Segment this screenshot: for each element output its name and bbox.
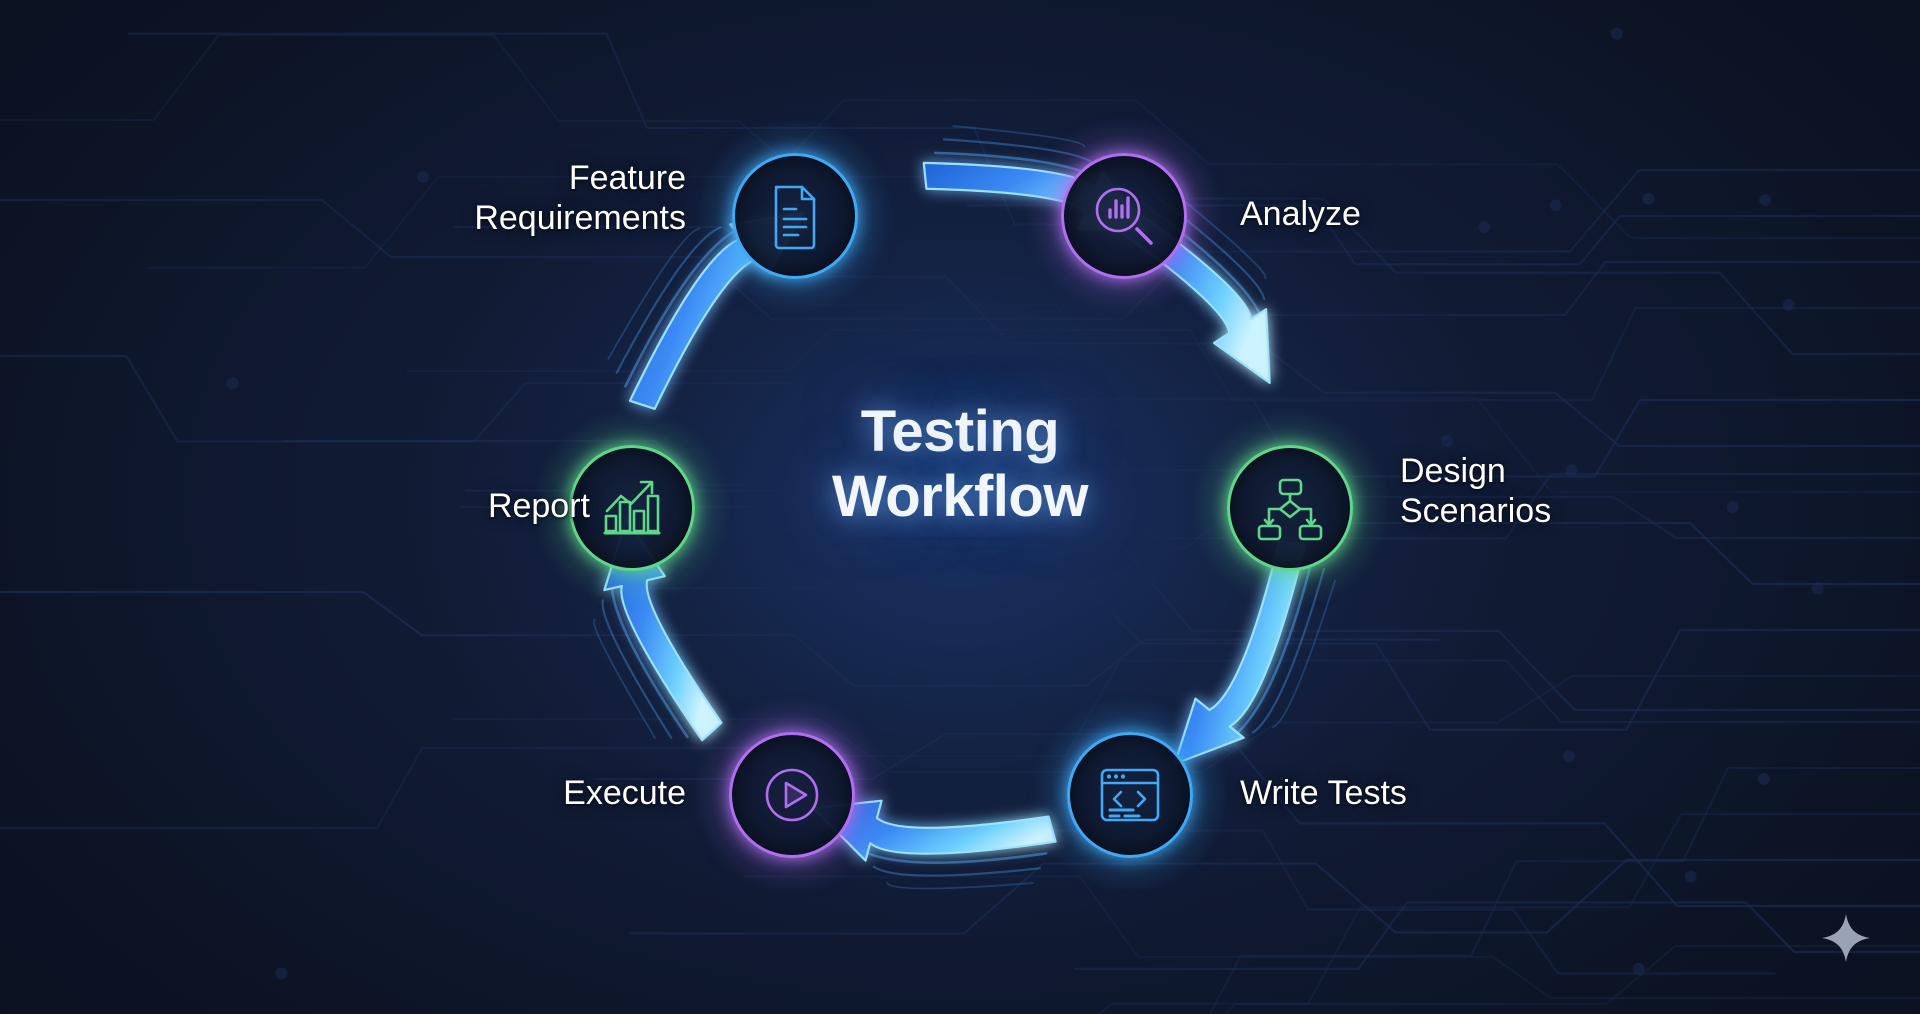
node-execute[interactable]: [729, 732, 855, 858]
flowchart-icon: [1253, 471, 1327, 545]
node-design-scenarios[interactable]: [1227, 445, 1353, 571]
node-label-execute: Execute: [396, 773, 686, 813]
sparkle-icon: [1820, 912, 1872, 964]
arrow-report-to-feature-speed-line: [953, 126, 1084, 147]
node-write-tests[interactable]: [1067, 732, 1193, 858]
code-window-icon: [1093, 758, 1167, 832]
node-label-design-scenarios: Design Scenarios: [1400, 451, 1730, 531]
bar-chart-trend-icon: [595, 471, 669, 545]
node-label-feature-requirements: Feature Requirements: [396, 158, 686, 238]
node-label-write-tests: Write Tests: [1240, 773, 1580, 813]
arrow-design-to-write-speed-line: [887, 883, 1033, 889]
node-feature-requirements[interactable]: [732, 153, 858, 279]
document-icon: [758, 179, 832, 253]
node-analyze[interactable]: [1061, 153, 1187, 279]
node-label-report: Report: [330, 486, 590, 526]
magnifier-chart-icon: [1087, 179, 1161, 253]
node-label-analyze: Analyze: [1240, 194, 1540, 234]
arrow-design-to-write-speed-line: [874, 867, 1040, 876]
diagram-canvas: Feature RequirementsAnalyzeDesign Scenar…: [0, 0, 1920, 1014]
play-circle-icon: [755, 758, 829, 832]
